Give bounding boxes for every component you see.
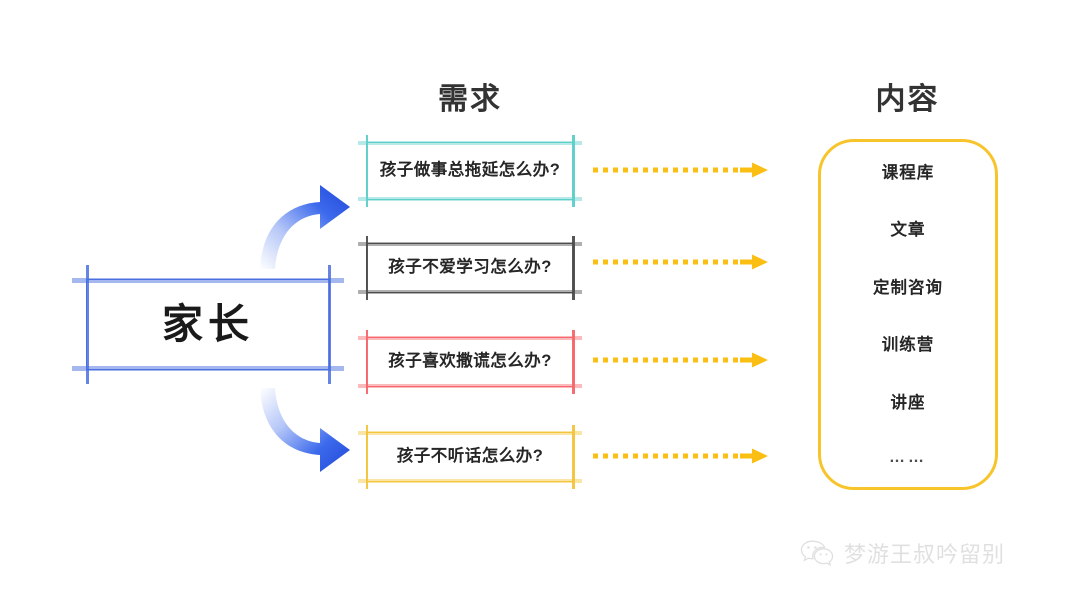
need-item-box[interactable]: 孩子不听话怎么办? bbox=[366, 432, 574, 482]
watermark: 梦游王叔吟留别 bbox=[800, 537, 1005, 569]
need-box-bar-top bbox=[358, 141, 582, 145]
need-box-tick-right bbox=[572, 236, 575, 300]
need-item-box[interactable]: 孩子不爱学习怎么办? bbox=[366, 243, 574, 293]
need-box-tick-left bbox=[366, 236, 369, 300]
dashed-arrow bbox=[592, 252, 770, 272]
parent-box-tick-left bbox=[86, 265, 89, 384]
need-box-bar-top bbox=[358, 431, 582, 435]
content-list-item: 训练营 bbox=[821, 315, 995, 373]
column-heading-need: 需求 bbox=[370, 74, 570, 118]
curved-arrow-down bbox=[238, 370, 370, 502]
curved-arrow-up bbox=[238, 161, 370, 293]
need-box-tick-right bbox=[572, 425, 575, 489]
need-box-bar-bottom bbox=[358, 197, 582, 201]
need-box-bar-top bbox=[358, 242, 582, 246]
need-box-tick-left bbox=[366, 330, 369, 394]
need-box-bar-bottom bbox=[358, 290, 582, 294]
need-item-box[interactable]: 孩子做事总拖延怎么办? bbox=[366, 142, 574, 200]
content-list-item: 课程库 bbox=[821, 142, 995, 200]
content-list-item: 定制咨询 bbox=[821, 257, 995, 315]
need-box-bar-bottom bbox=[358, 479, 582, 483]
need-item-label: 孩子不听话怎么办? bbox=[385, 446, 556, 468]
need-item-label: 孩子不爱学习怎么办? bbox=[376, 257, 564, 279]
dashed-arrow bbox=[592, 350, 770, 370]
content-list-item: 文章 bbox=[821, 200, 995, 258]
watermark-text: 梦游王叔吟留别 bbox=[844, 537, 1005, 569]
wechat-icon bbox=[800, 539, 834, 567]
content-list-item: 讲座 bbox=[821, 372, 995, 430]
need-box-bar-bottom bbox=[358, 384, 582, 388]
need-item-label: 孩子做事总拖延怎么办? bbox=[368, 160, 573, 182]
content-list-item-ellipsis: …… bbox=[821, 430, 995, 488]
need-item-label: 孩子喜欢撒谎怎么办? bbox=[376, 351, 564, 373]
need-box-tick-right bbox=[572, 330, 575, 394]
parent-node-label: 家长 bbox=[150, 297, 266, 351]
content-capsule[interactable]: 课程库 文章 定制咨询 训练营 讲座 …… bbox=[818, 139, 998, 490]
diagram-canvas: 需求 内容 家长 bbox=[0, 0, 1080, 608]
need-box-bar-top bbox=[358, 336, 582, 340]
dashed-arrow bbox=[592, 160, 770, 180]
dashed-arrow bbox=[592, 446, 770, 466]
need-box-tick-left bbox=[366, 425, 369, 489]
column-heading-content: 内容 bbox=[805, 74, 1010, 118]
need-item-box[interactable]: 孩子喜欢撒谎怎么办? bbox=[366, 337, 574, 387]
